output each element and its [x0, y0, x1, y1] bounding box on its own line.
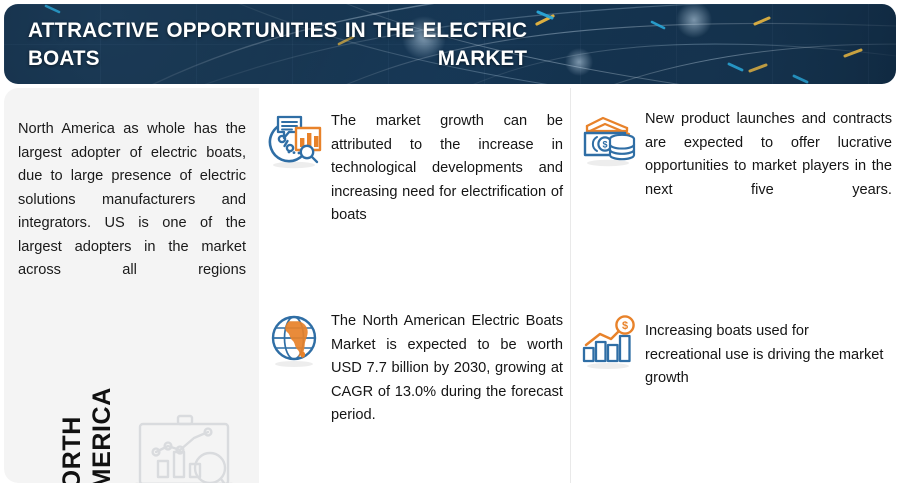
presentation-board-analysis-icon [128, 406, 248, 483]
globe-icon [263, 310, 325, 372]
region-name-vertical: NORTH AMERICA [32, 318, 142, 483]
market-analysis-percent-icon [263, 108, 325, 170]
cell-recreational-boats: $ Increasing boats used for recreational… [577, 314, 889, 391]
cell-recreational-boats-text: Increasing boats used for recreational u… [645, 314, 889, 391]
cell-market-growth-text: The market growth can be attributed to t… [331, 108, 563, 251]
header-banner: ATTRACTIVE OPPORTUNITIES IN THE ELECTRIC… [4, 4, 896, 84]
region-name-line-1: NORTH [58, 416, 86, 483]
content-grid: The market growth can be attributed to t… [259, 88, 896, 483]
region-name-line-2: AMERICA [88, 387, 116, 483]
money-cash-coins-icon: $ [577, 106, 639, 168]
cell-product-launches: $ New product launches and contracts are… [577, 106, 892, 226]
left-region-panel: North America as whole has the largest a… [4, 88, 259, 483]
cell-product-launches-text: New product launches and contracts are e… [645, 106, 892, 226]
region-description: North America as whole has the largest a… [18, 118, 246, 306]
svg-text:$: $ [602, 140, 607, 150]
cell-market-growth: The market growth can be attributed to t… [263, 108, 563, 251]
cell-market-forecast-text: The North American Electric Boats Market… [331, 310, 563, 451]
page-title: ATTRACTIVE OPPORTUNITIES IN THE ELECTRIC… [28, 16, 527, 84]
svg-text:$: $ [622, 320, 628, 332]
body-panel: North America as whole has the largest a… [4, 88, 896, 483]
cell-market-forecast: The North American Electric Boats Market… [263, 310, 563, 451]
growth-bar-chart-dollar-icon: $ [577, 314, 639, 376]
column-divider [570, 88, 571, 483]
infographic-canvas: ATTRACTIVE OPPORTUNITIES IN THE ELECTRIC… [0, 0, 900, 487]
